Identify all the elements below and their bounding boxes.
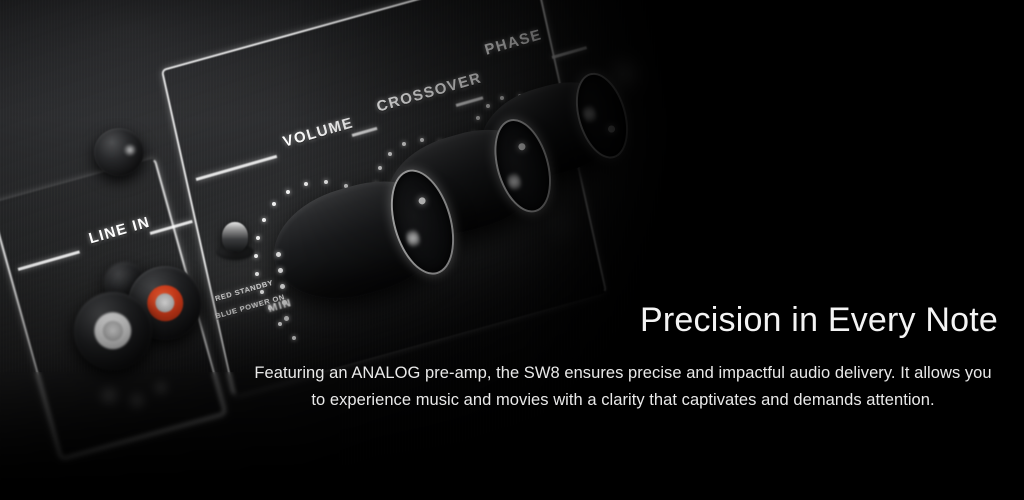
headline: Precision in Every Note <box>240 300 1012 340</box>
copy-block: Precision in Every Note Featuring an ANA… <box>240 300 1012 414</box>
promo-banner: PHASE CROSSOVER VOLUME LINE IN MIN RED S… <box>0 0 1024 500</box>
shadow-falloff <box>0 0 720 500</box>
product-photo: PHASE CROSSOVER VOLUME LINE IN MIN RED S… <box>0 0 720 500</box>
body-copy: Featuring an ANALOG pre-amp, the SW8 ens… <box>240 360 1012 413</box>
